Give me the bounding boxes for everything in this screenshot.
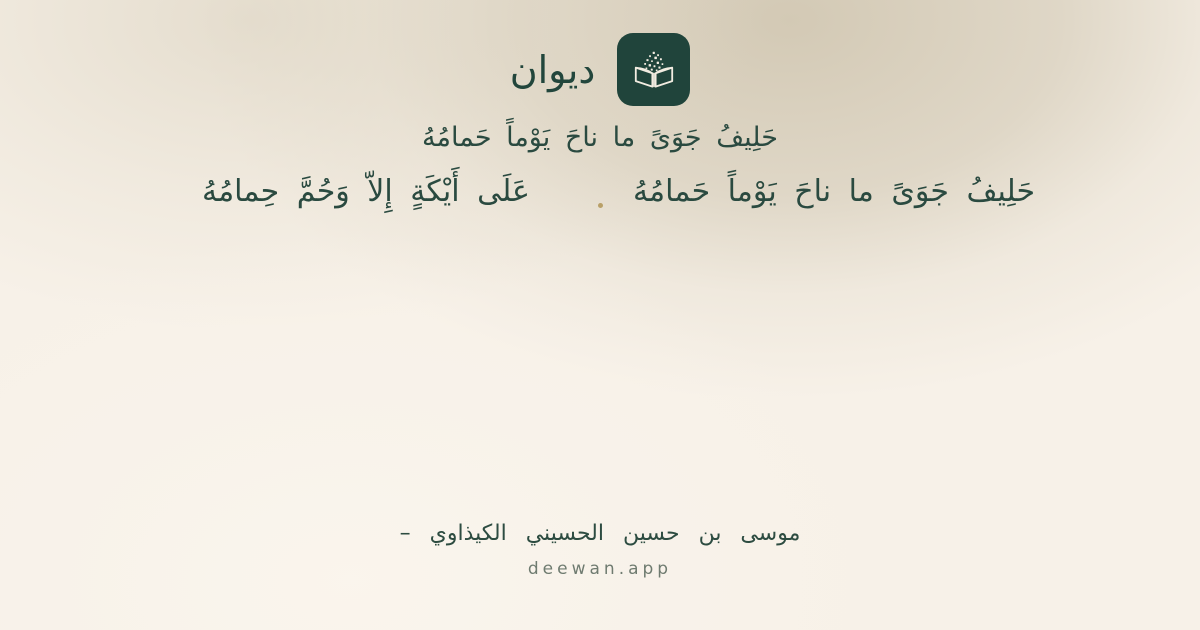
card-content: ديوان حَلِيفُ جَوَىً ما ناحَ يَوْماً حَم… — [0, 0, 1200, 630]
poem-line-1: حَلِيفُ جَوَىً ما ناحَ يَوْماً حَمامُهُ — [0, 118, 1200, 158]
brand-header: ديوان — [0, 33, 1200, 106]
poet-attribution: موسى بن حسين الحسيني الكيذاوي – — [0, 518, 1200, 550]
poem-line-2: حَلِيفُ جَوَىً ما ناحَ يَوْماً حَمامُهُ … — [0, 169, 1200, 215]
open-book-sparkles-icon — [631, 47, 677, 93]
hemistich-separator-dot — [587, 169, 613, 215]
brand-name: ديوان — [510, 51, 596, 89]
poem-hemistich-right: حَلِيفُ جَوَىً ما ناحَ يَوْماً حَمامُهُ — [613, 169, 1049, 215]
site-url: deewan.app — [0, 557, 1200, 581]
poem-block: حَلِيفُ جَوَىً ما ناحَ يَوْماً حَمامُهُ … — [0, 118, 1200, 215]
brand-logo-tile — [617, 33, 690, 106]
poem-hemistich-left: عَلَى أَيْكَةٍ إِلاّ وَحُمَّ حِمامُهُ — [151, 169, 587, 215]
og-card: ديوان حَلِيفُ جَوَىً ما ناحَ يَوْماً حَم… — [0, 0, 1200, 630]
